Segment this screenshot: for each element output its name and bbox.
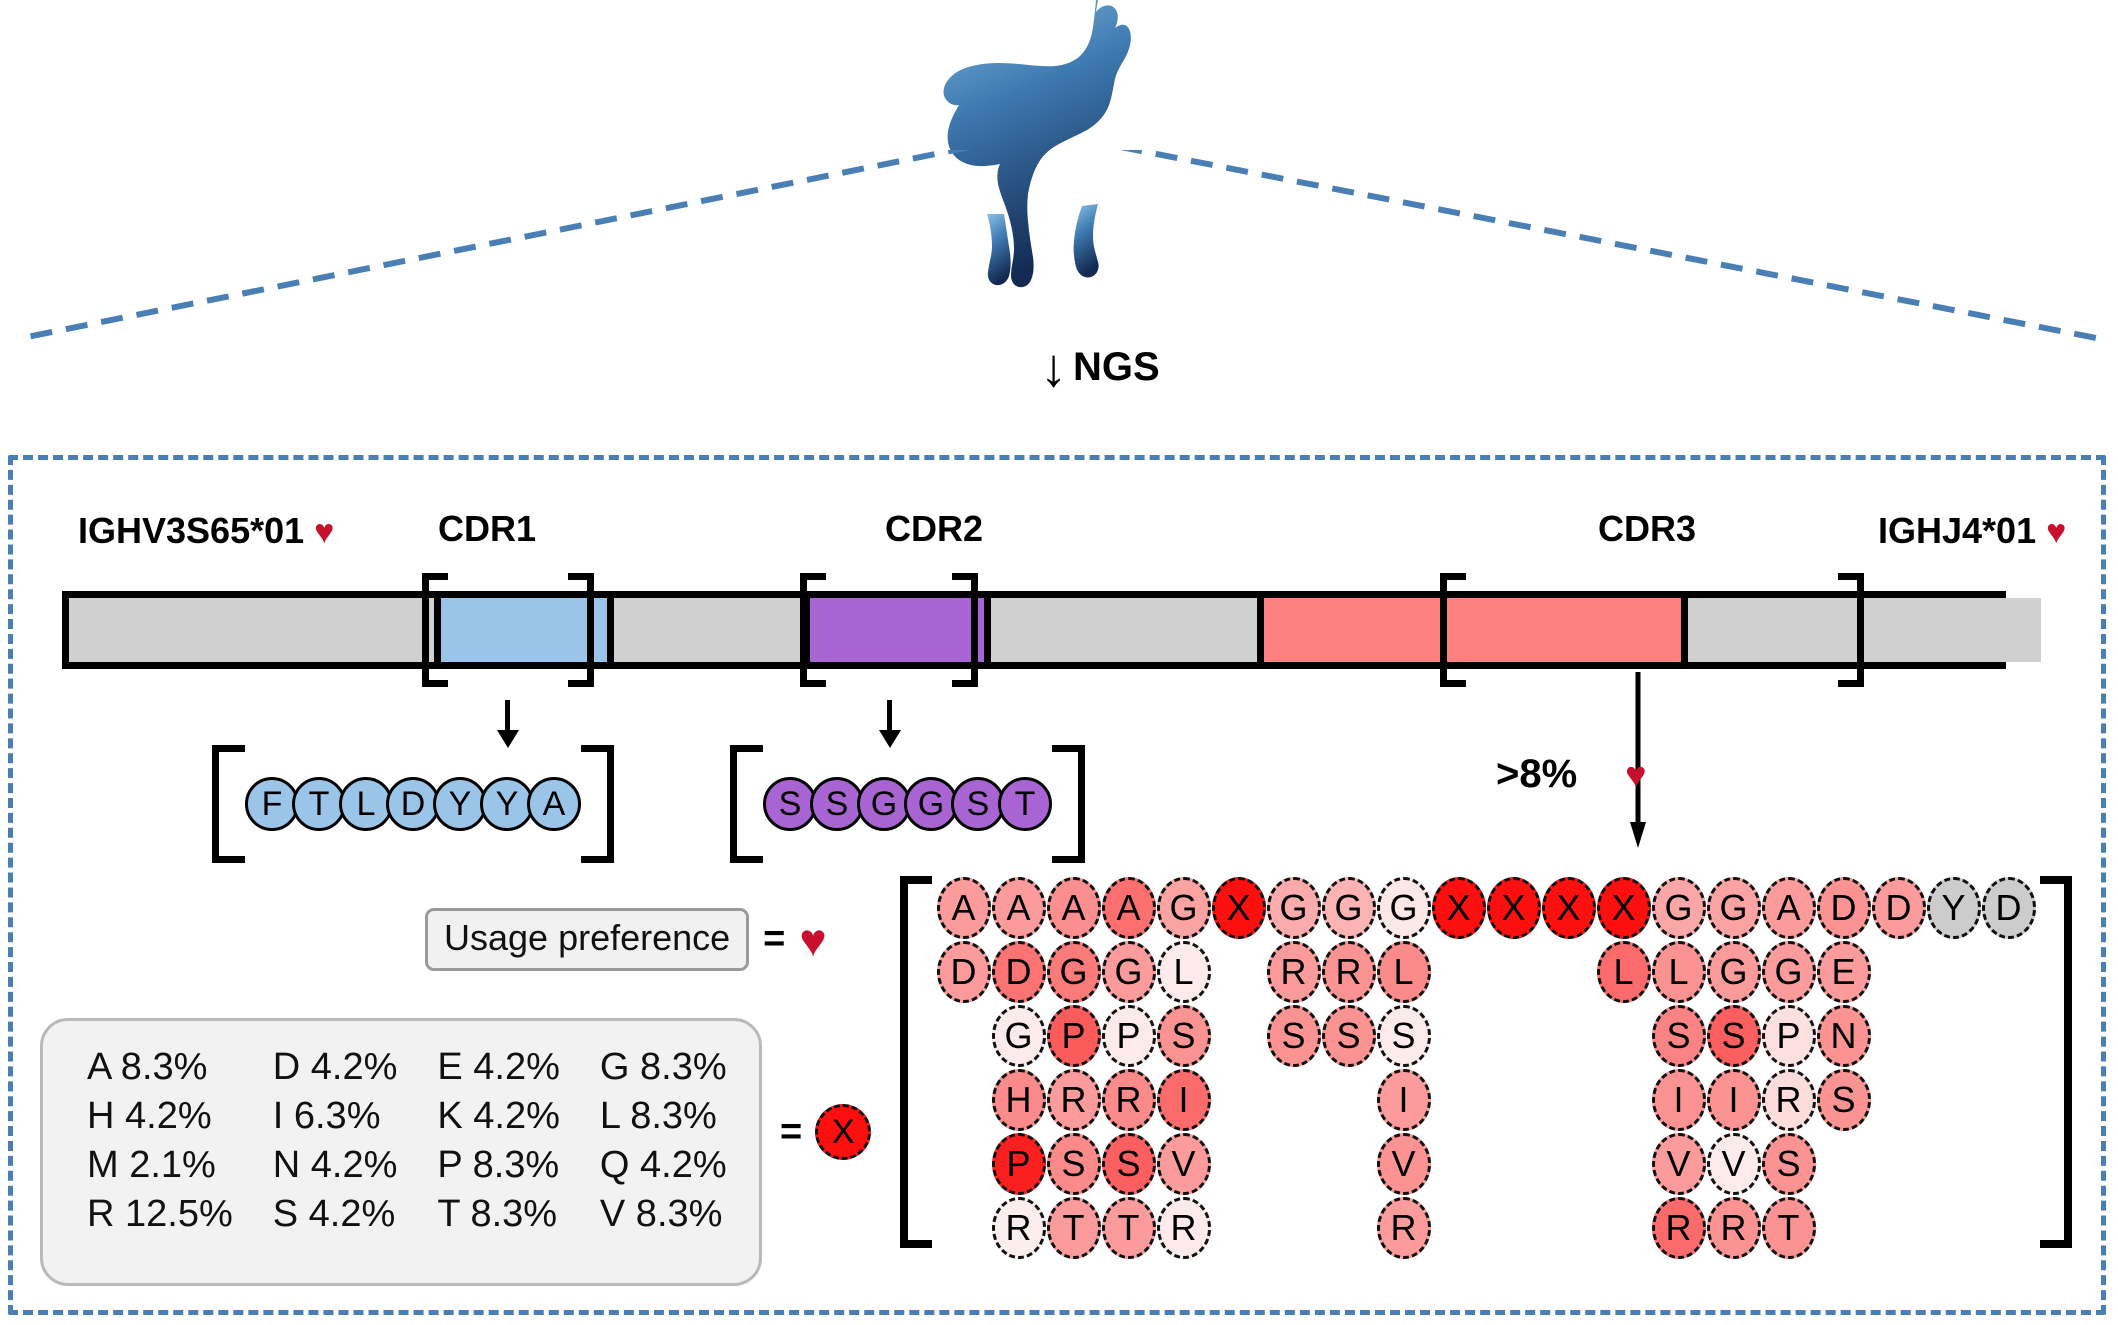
frequency-cell: N 4.2% <box>273 1141 438 1190</box>
cdr3-matrix-row: AAAAGXGGGXXXXGGADDYD <box>936 876 2036 940</box>
cdr3-residue-cell: S <box>1266 1004 1321 1068</box>
residue-pill: R <box>1102 1069 1156 1131</box>
gene-segment-framework1 <box>69 598 434 662</box>
ngs-label: NGS <box>1073 345 1160 390</box>
cdr3-residue-cell: R <box>1046 1068 1101 1132</box>
heart-icon: ♥ <box>799 917 826 963</box>
cdr3-residue-cell: A <box>991 876 1046 940</box>
residue-pill: X <box>1487 877 1541 939</box>
residue-bead: S <box>951 777 1005 831</box>
residue-pill: S <box>1157 1005 1211 1067</box>
residue-bead: S <box>810 777 864 831</box>
cdr3-residue-cell: G <box>991 1004 1046 1068</box>
residue-pill: D <box>937 941 991 1003</box>
residue-pill: G <box>1047 941 1101 1003</box>
cdr3-residue-cell: I <box>1156 1068 1211 1132</box>
cdr3-empty-cell <box>1926 1132 1981 1196</box>
cdr3-empty-cell <box>1871 1068 1926 1132</box>
cdr3-matrix-row: GPPSSSSSSPN <box>936 1004 2036 1068</box>
cdr3-residue-cell: L <box>1651 940 1706 1004</box>
cdr3-residue-cell: S <box>1376 1004 1431 1068</box>
cdr3-empty-cell <box>1266 1196 1321 1260</box>
cdr3-residue-cell: R <box>991 1196 1046 1260</box>
cdr3-empty-cell <box>1211 1068 1266 1132</box>
residue-bead: G <box>857 777 911 831</box>
cdr3-matrix-right-bracket <box>2040 876 2072 1248</box>
cdr3-residue-cell: S <box>1046 1132 1101 1196</box>
frequency-cell: M 2.1% <box>87 1141 273 1190</box>
cdr1-down-arrow-icon <box>497 700 517 748</box>
cdr3-residue-cell: T <box>1046 1196 1101 1260</box>
cdr3-residue-cell: R <box>1266 940 1321 1004</box>
cdr3-empty-cell <box>1816 1196 1871 1260</box>
amino-acid-frequency-box: A 8.3%D 4.2%E 4.2%G 8.3%H 4.2%I 6.3%K 4.… <box>40 1018 762 1286</box>
residue-pill: G <box>1157 877 1211 939</box>
cdr3-residue-cell: P <box>1761 1004 1816 1068</box>
cdr3-empty-cell <box>1211 1196 1266 1260</box>
cdr3-residue-cell: S <box>1706 1004 1761 1068</box>
cdr3-empty-cell <box>1926 1004 1981 1068</box>
cdr3-empty-cell <box>1486 940 1541 1004</box>
cdr3-empty-cell <box>1211 1004 1266 1068</box>
cdr3-residue-cell: V <box>1706 1132 1761 1196</box>
cdr3-empty-cell <box>1816 1132 1871 1196</box>
amino-acid-frequency-table: A 8.3%D 4.2%E 4.2%G 8.3%H 4.2%I 6.3%K 4.… <box>87 1043 767 1239</box>
cdr3-matrix: AAAAGXGGGXXXXGGADDYDDDGGLRRLLLGGEGPPSSSS… <box>932 876 2040 1260</box>
cdr3-residue-cell: S <box>1156 1004 1211 1068</box>
residue-pill: H <box>992 1069 1046 1131</box>
frequency-cell: E 4.2% <box>437 1043 600 1092</box>
residue-pill: E <box>1817 941 1871 1003</box>
residue-pill: G <box>1377 877 1431 939</box>
cdr3-matrix-group: AAAAGXGGGXXXXGGADDYDDDGGLRRLLLGGEGPPSSSS… <box>900 876 2072 1260</box>
cdr3-residue-cell: L <box>1156 940 1211 1004</box>
cdr3-matrix-row: PSSVVVVS <box>936 1132 2036 1196</box>
cdr3-residue-cell: P <box>1101 1004 1156 1068</box>
residue-pill: R <box>1157 1197 1211 1259</box>
cdr3-residue-cell: I <box>1376 1068 1431 1132</box>
cdr2-bead-list: SSGGST <box>763 777 1052 831</box>
cdr1-label: CDR1 <box>438 508 536 550</box>
cdr3-empty-cell <box>1871 1004 1926 1068</box>
residue-pill: G <box>1707 941 1761 1003</box>
cdr3-empty-cell <box>1486 1196 1541 1260</box>
cdr3-residue-cell: G <box>1651 876 1706 940</box>
cdr3-residue-cell: E <box>1816 940 1871 1004</box>
cdr3-residue-cell: S <box>1321 1004 1376 1068</box>
cdr3-residue-cell: G <box>1376 876 1431 940</box>
cdr3-empty-cell <box>1981 1004 2036 1068</box>
residue-pill: S <box>1102 1133 1156 1195</box>
frequency-row: R 12.5%S 4.2%T 8.3%V 8.3% <box>87 1190 767 1239</box>
residue-bead: D <box>386 777 440 831</box>
residue-bead: Y <box>480 777 534 831</box>
residue-bead: G <box>904 777 958 831</box>
cdr1-bead-list: FTLDYYA <box>245 777 581 831</box>
residue-pill: N <box>1817 1005 1871 1067</box>
residue-pill: P <box>1047 1005 1101 1067</box>
cdr3-empty-cell <box>1321 1196 1376 1260</box>
residue-pill: P <box>1102 1005 1156 1067</box>
cdr3-residue-cell: N <box>1816 1004 1871 1068</box>
frequency-cell: I 6.3% <box>273 1092 438 1141</box>
residue-pill: G <box>1267 877 1321 939</box>
residue-pill: L <box>1597 941 1651 1003</box>
residue-pill: I <box>1377 1069 1431 1131</box>
cdr2-down-arrow-icon <box>879 700 899 748</box>
frequency-cell: H 4.2% <box>87 1092 273 1141</box>
residue-bead: S <box>763 777 817 831</box>
residue-pill: P <box>1762 1005 1816 1067</box>
cdr3-empty-cell <box>1926 940 1981 1004</box>
cdr3-residue-cell: G <box>1046 940 1101 1004</box>
cdr3-matrix-left-bracket <box>900 876 932 1248</box>
cdr3-empty-cell <box>1926 1196 1981 1260</box>
cdr3-residue-cell: S <box>1816 1068 1871 1132</box>
cdr3-threshold-group: >8% ♥ <box>1496 752 1647 797</box>
cdr3-residue-cell: A <box>1101 876 1156 940</box>
cdr3-empty-cell <box>1211 940 1266 1004</box>
cdr3-residue-cell: V <box>1651 1132 1706 1196</box>
cdr3-empty-cell <box>1431 1004 1486 1068</box>
heart-icon: ♥ <box>314 513 334 551</box>
cdr3-empty-cell <box>936 1004 991 1068</box>
frequency-cell: T 8.3% <box>437 1190 600 1239</box>
cdr3-residue-cell: R <box>1651 1196 1706 1260</box>
cdr3-empty-cell <box>1321 1132 1376 1196</box>
threshold-label: >8% <box>1496 752 1577 797</box>
cdr3-residue-cell: V <box>1156 1132 1211 1196</box>
cdr3-residue-cell: V <box>1376 1132 1431 1196</box>
residue-pill: I <box>1707 1069 1761 1131</box>
cdr3-residue-cell: I <box>1651 1068 1706 1132</box>
cdr3-empty-cell <box>1981 1068 2036 1132</box>
residue-pill: A <box>1102 877 1156 939</box>
usage-preference-legend: Usage preference = ♥ <box>425 908 827 971</box>
cdr3-empty-cell <box>1981 940 2036 1004</box>
residue-pill: D <box>992 941 1046 1003</box>
cdr3-residue-cell: T <box>1761 1196 1816 1260</box>
residue-pill: S <box>1707 1005 1761 1067</box>
residue-pill: I <box>1652 1069 1706 1131</box>
cdr3-empty-cell <box>1596 1132 1651 1196</box>
residue-pill: R <box>1267 941 1321 1003</box>
gene-segment-framework3 <box>984 598 1257 662</box>
cdr3-empty-cell <box>1871 1132 1926 1196</box>
residue-pill: G <box>1652 877 1706 939</box>
residue-pill: R <box>992 1197 1046 1259</box>
residue-pill: L <box>1157 941 1211 1003</box>
cdr3-empty-cell <box>1486 1068 1541 1132</box>
residue-pill: G <box>1707 877 1761 939</box>
residue-pill: Y <box>1927 877 1981 939</box>
residue-pill: X <box>1432 877 1486 939</box>
cdr3-residue-cell: G <box>1706 876 1761 940</box>
cdr3-residue-cell: G <box>1761 940 1816 1004</box>
residue-bead: L <box>339 777 393 831</box>
v-gene-label: IGHV3S65*01 <box>78 510 304 551</box>
v-gene-label-group: IGHV3S65*01 ♥ <box>78 510 334 552</box>
frequency-cell: D 4.2% <box>273 1043 438 1092</box>
residue-pill: X <box>1212 877 1266 939</box>
j-gene-label-group: IGHJ4*01 ♥ <box>1878 510 2066 552</box>
cdr3-residue-cell: G <box>1156 876 1211 940</box>
cdr3-matrix-row: DDGGLRRLLLGGE <box>936 940 2036 1004</box>
cdr3-matrix-row: RTTRRRRT <box>936 1196 2036 1260</box>
cdr3-residue-cell: H <box>991 1068 1046 1132</box>
diagram-canvas: ↓ NGS IGHV3S65*01 ♥ CDR1 CDR2 CDR3 IGHJ4… <box>0 0 2118 1325</box>
residue-pill: A <box>992 877 1046 939</box>
cdr3-empty-cell <box>1596 1004 1651 1068</box>
residue-pill: V <box>1377 1133 1431 1195</box>
cdr3-empty-cell <box>1266 1068 1321 1132</box>
gene-segment-framework2 <box>607 598 803 662</box>
residue-pill: A <box>1047 877 1101 939</box>
cdr3-residue-cell: Y <box>1926 876 1981 940</box>
residue-pill: L <box>1377 941 1431 1003</box>
cdr3-empty-cell <box>936 1068 991 1132</box>
residue-pill: R <box>1762 1069 1816 1131</box>
cdr3-residue-cell: X <box>1431 876 1486 940</box>
residue-pill: R <box>1047 1069 1101 1131</box>
residue-bead: A <box>527 777 581 831</box>
residue-pill: T <box>1102 1197 1156 1259</box>
cdr3-empty-cell <box>1981 1132 2036 1196</box>
cdr3-residue-cell: D <box>1871 876 1926 940</box>
cdr3-empty-cell <box>936 1132 991 1196</box>
cdr3-empty-cell <box>1211 1132 1266 1196</box>
cdr3-empty-cell <box>1431 1068 1486 1132</box>
residue-bead: T <box>292 777 346 831</box>
residue-pill: V <box>1707 1133 1761 1195</box>
cdr2-sequence-group: SSGGST <box>730 752 1085 856</box>
residue-pill: A <box>937 877 991 939</box>
cdr3-empty-cell <box>1871 1196 1926 1260</box>
cdr3-empty-cell <box>1486 1004 1541 1068</box>
cdr3-empty-cell <box>1596 1196 1651 1260</box>
residue-pill: V <box>1652 1133 1706 1195</box>
residue-bead: F <box>245 777 299 831</box>
cdr3-bracket <box>1440 573 1864 687</box>
residue-pill: D <box>1817 877 1871 939</box>
cdr3-residue-cell: P <box>991 1132 1046 1196</box>
residue-pill: G <box>1322 877 1376 939</box>
cdr3-residue-cell: X <box>1486 876 1541 940</box>
cdr3-residue-cell: X <box>1596 876 1651 940</box>
cdr1-sequence-group: FTLDYYA <box>212 752 614 856</box>
frequency-cell: Q 4.2% <box>600 1141 767 1190</box>
residue-pill: R <box>1652 1197 1706 1259</box>
residue-pill: G <box>1102 941 1156 1003</box>
residue-pill: T <box>1047 1197 1101 1259</box>
cdr3-residue-cell: S <box>1651 1004 1706 1068</box>
frequency-cell: K 4.2% <box>437 1092 600 1141</box>
cdr3-residue-cell: R <box>1761 1068 1816 1132</box>
residue-pill: S <box>1652 1005 1706 1067</box>
cdr3-empty-cell <box>1871 940 1926 1004</box>
residue-pill: S <box>1817 1069 1871 1131</box>
cdr3-empty-cell <box>936 1196 991 1260</box>
cdr1-bracket <box>422 573 594 687</box>
cdr3-matrix-row: HRRIIIIRS <box>936 1068 2036 1132</box>
cdr3-residue-cell: D <box>936 940 991 1004</box>
cdr3-residue-cell: R <box>1706 1196 1761 1260</box>
cdr3-residue-cell: L <box>1596 940 1651 1004</box>
cdr3-residue-cell: S <box>1761 1132 1816 1196</box>
residue-pill: A <box>1762 877 1816 939</box>
cdr3-residue-cell: A <box>1046 876 1101 940</box>
cdr3-empty-cell <box>1266 1132 1321 1196</box>
cdr3-residue-cell: A <box>936 876 991 940</box>
cdr2-bracket <box>800 573 978 687</box>
cdr3-empty-cell <box>1431 1196 1486 1260</box>
frequency-cell: G 8.3% <box>600 1043 767 1092</box>
cdr3-label: CDR3 <box>1598 508 1696 550</box>
cdr3-residue-cell: X <box>1211 876 1266 940</box>
residue-bead: T <box>998 777 1052 831</box>
residue-pill: R <box>1377 1197 1431 1259</box>
cdr3-empty-cell <box>1981 1196 2036 1260</box>
residue-pill: R <box>1322 941 1376 1003</box>
cdr3-residue-cell: D <box>1981 876 2036 940</box>
alpaca-silhouette-icon <box>900 0 1220 330</box>
frequency-row: H 4.2%I 6.3%K 4.2%L 8.3% <box>87 1092 767 1141</box>
cdr3-residue-cell: L <box>1376 940 1431 1004</box>
cdr3-empty-cell <box>1541 1068 1596 1132</box>
cdr3-residue-cell: R <box>1101 1068 1156 1132</box>
usage-preference-label: Usage preference <box>425 908 749 971</box>
cdr3-empty-cell <box>1926 1068 1981 1132</box>
residue-pill: G <box>992 1005 1046 1067</box>
cdr3-residue-cell: P <box>1046 1004 1101 1068</box>
residue-pill: S <box>1267 1005 1321 1067</box>
residue-pill: S <box>1322 1005 1376 1067</box>
frequency-cell: L 8.3% <box>600 1092 767 1141</box>
cdr3-empty-cell <box>1541 1132 1596 1196</box>
x-legend: = X <box>780 1104 871 1160</box>
cdr3-residue-cell: I <box>1706 1068 1761 1132</box>
residue-pill: R <box>1707 1197 1761 1259</box>
residue-pill: D <box>1982 877 2036 939</box>
residue-pill: G <box>1762 941 1816 1003</box>
cdr2-label: CDR2 <box>885 508 983 550</box>
residue-bead: Y <box>433 777 487 831</box>
heart-icon: ♥ <box>1625 757 1646 793</box>
residue-pill: X <box>1542 877 1596 939</box>
residue-pill: S <box>1377 1005 1431 1067</box>
cdr3-empty-cell <box>1541 1196 1596 1260</box>
cdr3-empty-cell <box>1431 940 1486 1004</box>
cdr3-residue-cell: A <box>1761 876 1816 940</box>
residue-pill: I <box>1157 1069 1211 1131</box>
cdr3-residue-cell: R <box>1321 940 1376 1004</box>
cdr3-residue-cell: R <box>1376 1196 1431 1260</box>
heart-icon: ♥ <box>2046 513 2066 551</box>
cdr3-residue-cell: G <box>1101 940 1156 1004</box>
frequency-cell: S 4.2% <box>273 1190 438 1239</box>
residue-pill: S <box>1047 1133 1101 1195</box>
residue-pill: V <box>1157 1133 1211 1195</box>
x-residue-icon: X <box>815 1104 871 1160</box>
equals-sign: = <box>780 1111 802 1154</box>
cdr3-residue-cell: D <box>991 940 1046 1004</box>
residue-pill: X <box>1597 877 1651 939</box>
cdr3-empty-cell <box>1321 1068 1376 1132</box>
frequency-cell: R 12.5% <box>87 1190 273 1239</box>
cdr3-residue-cell: X <box>1541 876 1596 940</box>
cdr3-empty-cell <box>1541 1004 1596 1068</box>
cdr3-empty-cell <box>1541 940 1596 1004</box>
frequency-row: A 8.3%D 4.2%E 4.2%G 8.3% <box>87 1043 767 1092</box>
frequency-row: M 2.1%N 4.2%P 8.3%Q 4.2% <box>87 1141 767 1190</box>
residue-pill: P <box>992 1133 1046 1195</box>
frequency-cell: A 8.3% <box>87 1043 273 1092</box>
cdr3-residue-cell: G <box>1706 940 1761 1004</box>
residue-pill: D <box>1872 877 1926 939</box>
cdr3-residue-cell: G <box>1321 876 1376 940</box>
residue-pill: S <box>1762 1133 1816 1195</box>
equals-sign: = <box>763 918 785 961</box>
residue-pill: L <box>1652 941 1706 1003</box>
j-gene-label: IGHJ4*01 <box>1878 510 2036 551</box>
frequency-cell: P 8.3% <box>437 1141 600 1190</box>
cdr3-residue-cell: D <box>1816 876 1871 940</box>
cdr3-residue-cell: G <box>1266 876 1321 940</box>
cdr3-residue-cell: S <box>1101 1132 1156 1196</box>
cdr3-empty-cell <box>1431 1132 1486 1196</box>
cdr3-empty-cell <box>1486 1132 1541 1196</box>
residue-pill: T <box>1762 1197 1816 1259</box>
cdr3-residue-cell: T <box>1101 1196 1156 1260</box>
cdr3-empty-cell <box>1596 1068 1651 1132</box>
cdr3-residue-cell: R <box>1156 1196 1211 1260</box>
ngs-step: ↓ NGS <box>1040 345 1160 390</box>
frequency-cell: V 8.3% <box>600 1190 767 1239</box>
down-arrow-icon: ↓ <box>1040 348 1067 388</box>
